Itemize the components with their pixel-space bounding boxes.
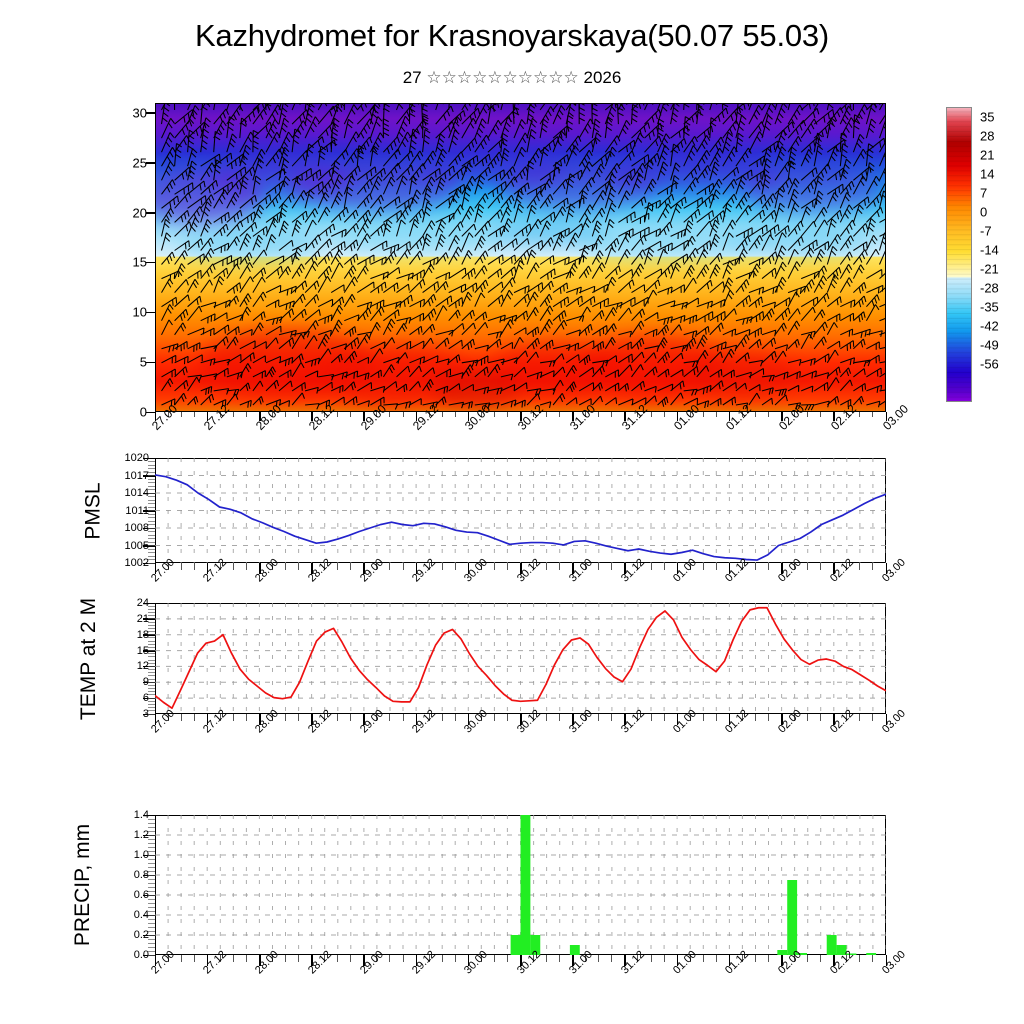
x-axis-minor-tick bbox=[546, 955, 547, 962]
x-axis-minor-tick bbox=[194, 955, 195, 962]
y-axis-minor-tick bbox=[148, 899, 155, 900]
x-axis-minor-tick bbox=[559, 955, 560, 962]
y-axis-minor-tick bbox=[148, 923, 155, 924]
x-axis-minor-tick bbox=[768, 955, 769, 962]
y-axis-minor-tick bbox=[148, 847, 155, 848]
y-axis-minor-tick bbox=[148, 867, 155, 868]
y-axis-minor-tick bbox=[148, 907, 155, 908]
x-axis-minor-tick bbox=[651, 955, 652, 962]
precip-bar bbox=[521, 815, 531, 955]
precip-bar bbox=[827, 935, 837, 955]
x-axis-minor-tick bbox=[233, 955, 234, 962]
y-axis-minor-tick bbox=[148, 835, 155, 836]
precip-bar bbox=[787, 880, 797, 955]
y-axis-minor-tick bbox=[148, 915, 155, 916]
y-axis-minor-tick bbox=[148, 935, 155, 936]
x-axis-minor-tick bbox=[403, 955, 404, 962]
y-axis-minor-tick bbox=[148, 883, 155, 884]
y-axis-minor-tick bbox=[148, 843, 155, 844]
y-axis-minor-tick bbox=[148, 887, 155, 888]
precip-series-bars bbox=[511, 815, 877, 955]
y-axis-minor-tick bbox=[148, 863, 155, 864]
y-axis-minor-tick bbox=[148, 927, 155, 928]
x-axis-minor-tick bbox=[859, 955, 860, 962]
x-axis-minor-tick bbox=[807, 955, 808, 962]
x-axis-minor-tick bbox=[337, 955, 338, 962]
y-axis-minor-tick bbox=[148, 855, 155, 856]
precip-axis-title: PRECIP, mm bbox=[71, 824, 95, 946]
x-axis-minor-tick bbox=[455, 955, 456, 962]
y-axis-minor-tick bbox=[148, 947, 155, 948]
y-axis-minor-tick bbox=[148, 919, 155, 920]
y-axis-tick bbox=[143, 815, 155, 817]
x-axis-minor-tick bbox=[611, 955, 612, 962]
x-axis-minor-tick bbox=[872, 955, 873, 962]
x-axis-tick-label: 27.00 bbox=[149, 949, 177, 977]
x-axis-minor-tick bbox=[494, 955, 495, 962]
precip-bar bbox=[570, 945, 580, 955]
x-axis-minor-tick bbox=[507, 955, 508, 962]
precip-bar bbox=[866, 953, 876, 955]
x-axis-minor-tick bbox=[664, 955, 665, 962]
precip-plot bbox=[155, 815, 886, 955]
y-axis-minor-tick bbox=[148, 819, 155, 820]
y-axis-minor-tick bbox=[148, 895, 155, 896]
precip-bar bbox=[511, 935, 521, 955]
forecast-meteogram-page: Kazhydromet for Krasnoyarskaya(50.07 55.… bbox=[0, 0, 1024, 1024]
x-axis-minor-tick bbox=[703, 955, 704, 962]
y-axis-minor-tick bbox=[148, 931, 155, 932]
x-axis-minor-tick bbox=[181, 955, 182, 962]
x-axis-minor-tick bbox=[389, 955, 390, 962]
x-axis-minor-tick bbox=[285, 955, 286, 962]
y-axis-minor-tick bbox=[148, 951, 155, 952]
y-axis-minor-tick bbox=[148, 911, 155, 912]
precip-panel: 0.00.20.40.60.81.01.21.427.0027.1228.002… bbox=[0, 0, 1024, 1024]
x-axis-minor-tick bbox=[442, 955, 443, 962]
x-axis-minor-tick bbox=[716, 955, 717, 962]
y-axis-minor-tick bbox=[148, 891, 155, 892]
y-axis-minor-tick bbox=[148, 827, 155, 828]
y-axis-minor-tick bbox=[148, 939, 155, 940]
y-axis-minor-tick bbox=[148, 871, 155, 872]
y-axis-minor-tick bbox=[148, 859, 155, 860]
y-axis-minor-tick bbox=[148, 839, 155, 840]
y-axis-minor-tick bbox=[148, 875, 155, 876]
x-axis-minor-tick bbox=[820, 955, 821, 962]
y-axis-minor-tick bbox=[148, 823, 155, 824]
y-axis-minor-tick bbox=[148, 903, 155, 904]
x-axis-minor-tick bbox=[350, 955, 351, 962]
x-axis-minor-tick bbox=[598, 955, 599, 962]
y-axis-minor-tick bbox=[148, 943, 155, 944]
x-axis-minor-tick bbox=[755, 955, 756, 962]
y-axis-minor-tick bbox=[148, 879, 155, 880]
y-axis-minor-tick bbox=[148, 831, 155, 832]
x-axis-minor-tick bbox=[246, 955, 247, 962]
y-axis-minor-tick bbox=[148, 851, 155, 852]
x-axis-minor-tick bbox=[298, 955, 299, 962]
